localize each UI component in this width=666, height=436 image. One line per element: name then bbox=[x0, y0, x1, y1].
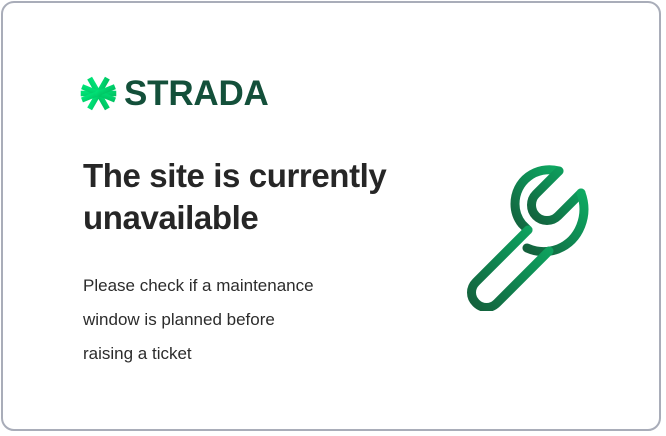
brand-wordmark: STRADA bbox=[124, 76, 269, 111]
page-description: Please check if a maintenance window is … bbox=[83, 269, 393, 371]
description-line: Please check if a maintenance bbox=[83, 269, 393, 303]
status-card: STRADA The site is currently unavailable… bbox=[1, 1, 661, 431]
wrench-icon bbox=[458, 155, 610, 311]
description-line: window is planned before bbox=[83, 303, 393, 337]
brand-logo-lockup: STRADA bbox=[80, 75, 269, 112]
strada-asterisk-icon bbox=[80, 75, 117, 112]
page-title: The site is currently unavailable bbox=[83, 155, 413, 239]
description-line: raising a ticket bbox=[83, 337, 393, 371]
